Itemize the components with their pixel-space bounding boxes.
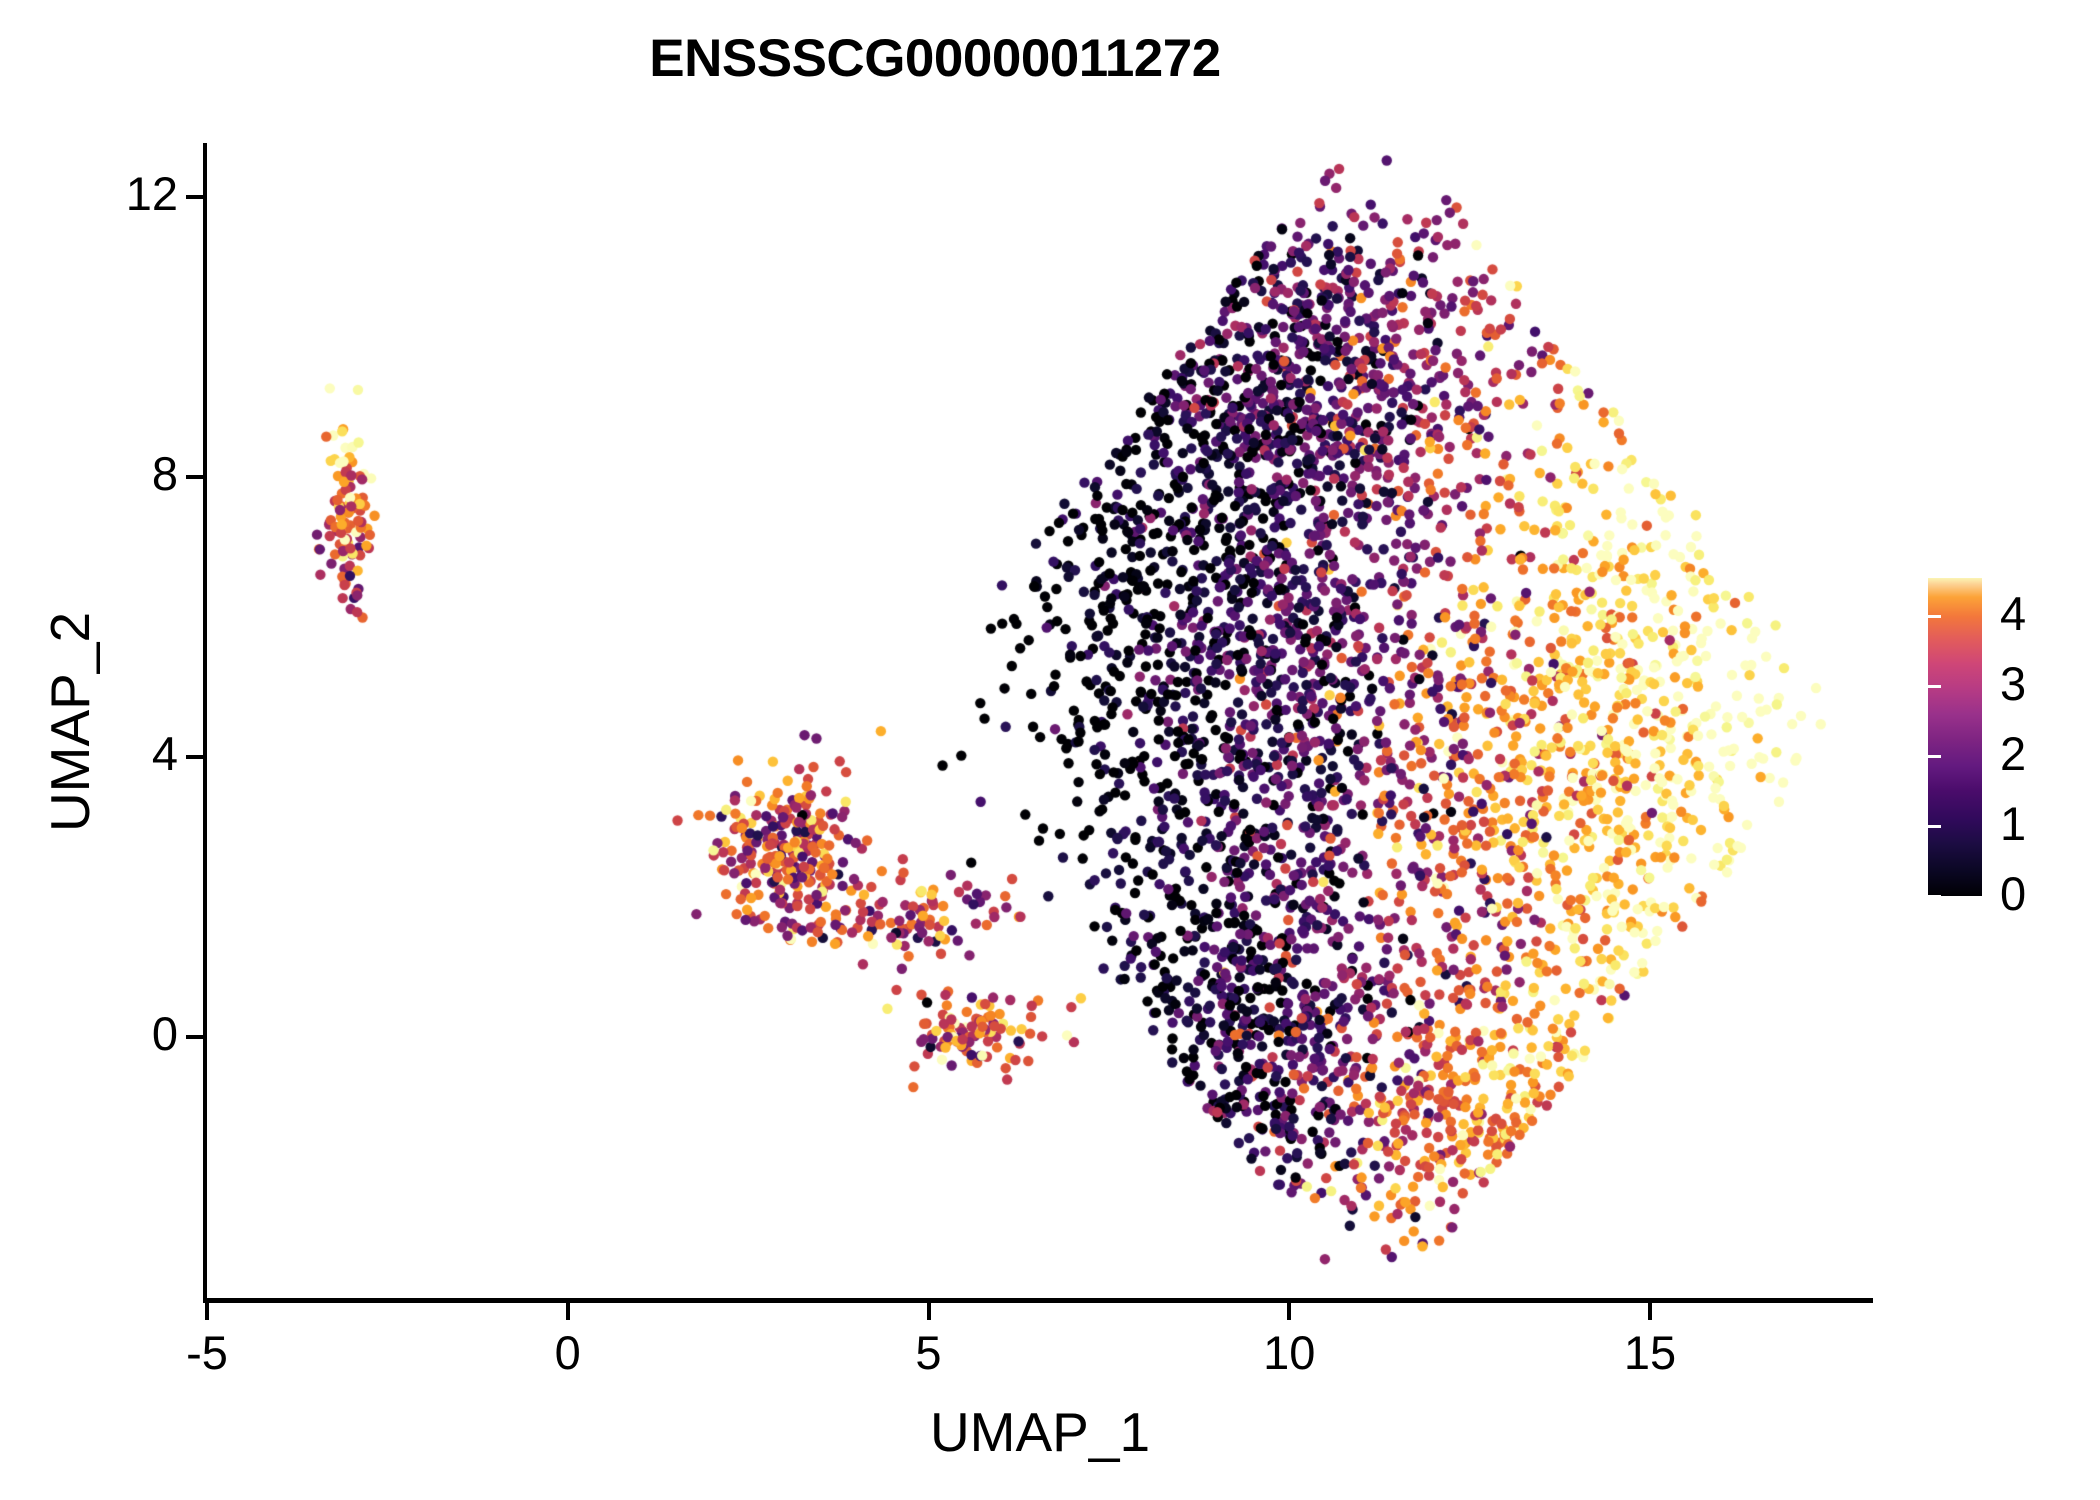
x-axis-label: UMAP_1 [207, 1400, 1873, 1464]
y-axis-label: UMAP_2 [38, 422, 102, 1022]
x-tick-label-4: 15 [1580, 1325, 1720, 1380]
y-tick-2 [186, 475, 203, 479]
colorbar-label-0: 0 [2000, 866, 2026, 921]
colorbar-tick-1 [2075, 825, 2088, 828]
colorbar-tick-4 [1928, 615, 1941, 618]
colorbar-tick-2 [1928, 755, 1941, 758]
x-tick-2 [927, 1303, 931, 1320]
colorbar-legend: 01234 [1928, 578, 2088, 908]
scatter-plot-canvas [207, 145, 1873, 1300]
x-tick-label-1: 0 [498, 1325, 638, 1380]
x-tick-1 [566, 1303, 570, 1320]
y-tick-label-3: 12 [18, 166, 178, 221]
y-tick-1 [186, 755, 203, 759]
figure-root: ENSSSCG00000011272 -5051015 04812 UMAP_1… [0, 0, 2100, 1500]
colorbar-label-4: 4 [2000, 586, 2026, 641]
page-title: ENSSSCG00000011272 [0, 28, 1870, 89]
x-tick-label-2: 5 [859, 1325, 999, 1380]
colorbar-tick-3 [1928, 685, 1941, 688]
colorbar-tick-0 [2075, 895, 2088, 898]
colorbar-tick-3 [2075, 685, 2088, 688]
colorbar-label-1: 1 [2000, 796, 2026, 851]
colorbar-label-3: 3 [2000, 656, 2026, 711]
y-tick-0 [186, 1035, 203, 1039]
x-tick-label-3: 10 [1219, 1325, 1359, 1380]
colorbar-tick-2 [2075, 755, 2088, 758]
y-tick-3 [186, 195, 203, 199]
colorbar-tick-1 [1928, 825, 1941, 828]
x-tick-0 [205, 1303, 209, 1320]
x-axis-line [203, 1298, 1873, 1303]
plot-panel [207, 145, 1873, 1300]
colorbar-label-2: 2 [2000, 726, 2026, 781]
x-tick-4 [1648, 1303, 1652, 1320]
y-axis-line [203, 143, 207, 1302]
colorbar-tick-4 [2075, 615, 2088, 618]
colorbar-tick-0 [1928, 895, 1941, 898]
x-tick-3 [1287, 1303, 1291, 1320]
colorbar-gradient [1928, 578, 1982, 896]
